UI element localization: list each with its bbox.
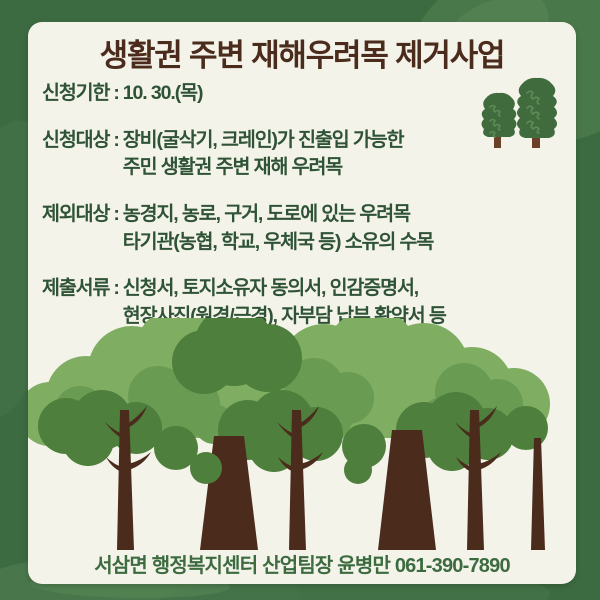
page-title: 생활권 주변 재해우려목 제거사업 [28,30,576,75]
info-row-eligible: 신청대상 : 장비(굴삭기, 크레인)가 진출입 가능한 주민 생활권 주변 재… [28,123,576,182]
info-values: 장비(굴삭기, 크레인)가 진출입 가능한 주민 생활권 주변 재해 우려목 [123,127,576,182]
tree-trunk [531,438,545,550]
info-list: 신청기한 : 10. 30.(목) 신청대상 : 장비(굴삭기, 크레인)가 진… [28,76,576,333]
info-row-deadline: 신청기한 : 10. 30.(목) [28,76,576,108]
info-value-line: 10. 30.(목) [123,80,576,108]
forest-illustration [28,318,576,550]
info-row-excluded: 제외대상 : 농경지, 농로, 구거, 도로에 있는 우려목 타기관(농협, 학… [28,197,576,256]
info-separator: : [109,129,122,152]
info-separator: : [109,203,122,226]
spacer [28,258,576,271]
info-label: 제출서류 [42,271,109,300]
info-value-line: 주민 생활권 주변 재해 우려목 [123,154,576,182]
info-values: 10. 30.(목) [123,80,576,108]
info-separator: : [109,82,122,105]
info-value-line: 장비(굴삭기, 크레인)가 진출입 가능한 [123,127,576,155]
poster-root: 생활권 주변 재해우려목 제거사업 [0,0,600,600]
info-value-line: 신청서, 토지소유자 동의서, 인감증명서, [123,275,576,303]
info-label: 신청기한 [42,76,109,105]
poster-card: 생활권 주변 재해우려목 제거사업 [28,22,576,584]
forest-trees-icon [28,318,576,550]
info-value-line: 타기관(농협, 학교, 우체국 등) 소유의 수목 [123,229,576,257]
footer-contact: 서삼면 행정복지센터 산업팀장 윤병만 061-390-7890 [28,549,576,578]
info-values: 농경지, 농로, 구거, 도로에 있는 우려목 타기관(농협, 학교, 우체국 … [123,201,576,256]
info-label: 제외대상 [42,197,109,226]
info-separator: : [109,277,122,300]
spacer [28,184,576,197]
info-value-line: 농경지, 농로, 구거, 도로에 있는 우려목 [123,201,576,229]
info-label: 신청대상 [42,123,109,152]
spacer [28,110,576,123]
